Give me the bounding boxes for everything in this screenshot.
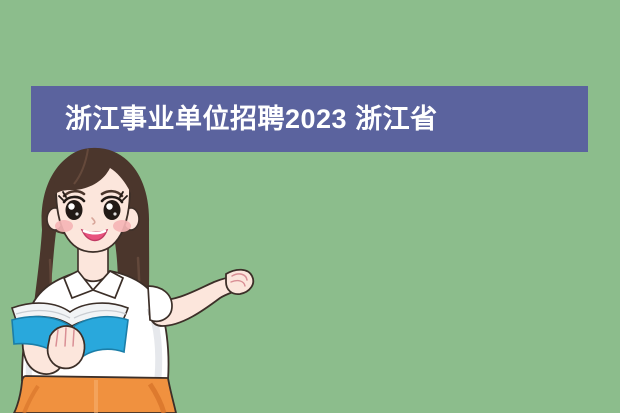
page-title: 浙江事业单位招聘2023 浙江省 <box>31 106 438 133</box>
left-hand-on-book <box>48 326 85 368</box>
poster-canvas: 浙江事业单位招聘2023 浙江省 <box>0 0 620 413</box>
character-illustration <box>0 140 300 413</box>
orange-skirt <box>14 376 176 413</box>
right-arm-open-palm <box>148 270 253 326</box>
